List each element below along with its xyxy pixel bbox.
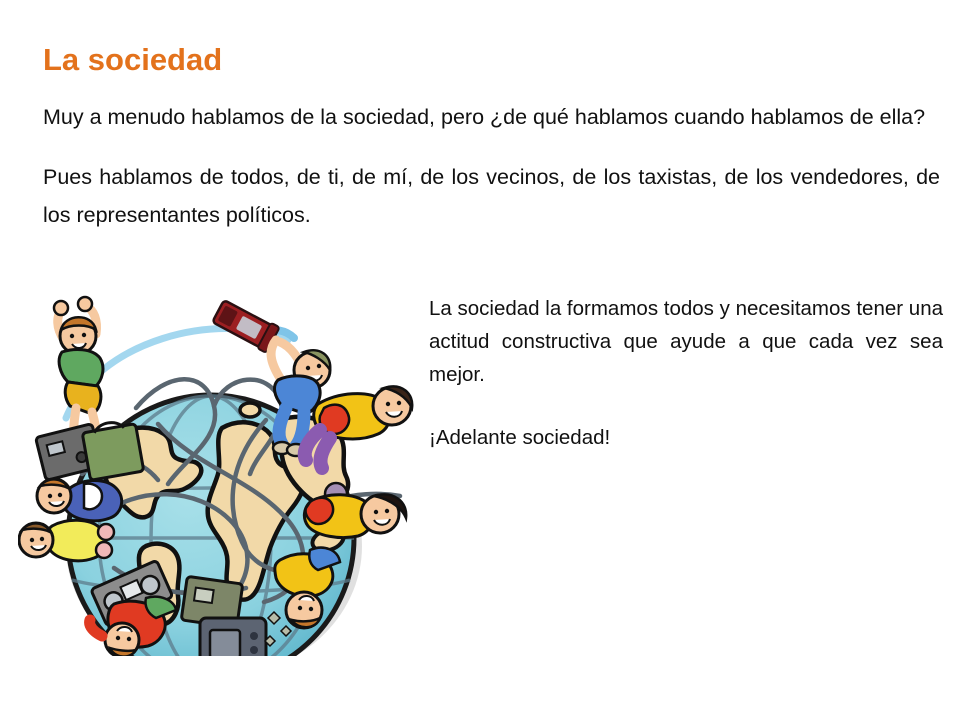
child-left-lower <box>19 520 114 561</box>
slide: La sociedad Muy a menudo hablamos de la … <box>0 0 960 720</box>
side-paragraph: La sociedad la formamos todos y necesita… <box>429 292 943 391</box>
side-text-block: La sociedad la formamos todos y necesita… <box>429 292 943 454</box>
page-title: La sociedad <box>43 43 743 77</box>
body-paragraph-1: Muy a menudo hablamos de la sociedad, pe… <box>43 98 940 136</box>
globe-with-children-illustration <box>18 288 422 656</box>
child-right-upper <box>305 386 412 468</box>
child-left-upper <box>37 479 122 521</box>
body-text-block: Muy a menudo hablamos de la sociedad, pe… <box>43 98 940 234</box>
island-small-north <box>240 403 260 417</box>
body-paragraph-2: Pues hablamos de todos, de ti, de mí, de… <box>43 158 940 234</box>
side-exclamation: ¡Adelante sociedad! <box>429 421 943 454</box>
tv-bottom-center-icon <box>200 618 266 656</box>
